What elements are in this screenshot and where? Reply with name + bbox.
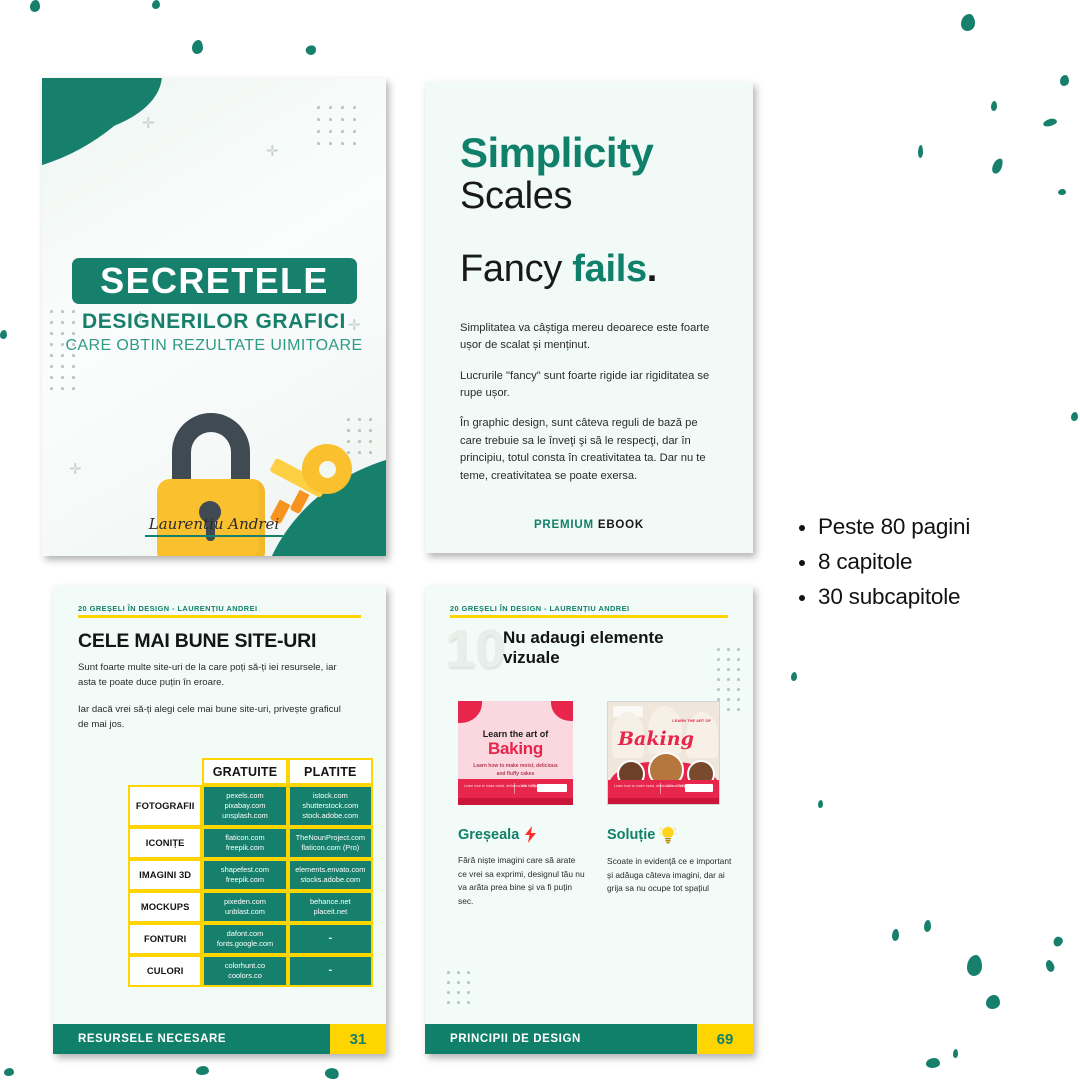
key-head-hole-icon: [319, 461, 336, 478]
table-row: FOTOGRAFII pexels.compixabay.comunsplash…: [128, 785, 373, 827]
page-footer: RESURSELE NECESARE 31: [53, 1024, 386, 1054]
mistake-heading: Greșeala: [458, 827, 519, 843]
leaf-icon: [991, 157, 1005, 175]
leaf-icon: [1051, 935, 1064, 948]
thumb-line2: Baking: [458, 739, 573, 759]
leaf-icon: [192, 40, 203, 54]
thumb-line3: Learn how to make moist, delicious and f…: [470, 763, 561, 778]
cover-subtitle-1: DESIGNERILOR GRAFICI: [42, 310, 386, 334]
table-row-label: FONTURI: [128, 923, 202, 955]
leaf-icon: [1060, 75, 1069, 86]
leaf-icon: [4, 1068, 14, 1076]
table-cell-paid: istock.comshutterstock.comstock.adobe.co…: [288, 785, 373, 827]
simplicity-heading-line3: Fancy fails.: [460, 248, 657, 291]
principle-number: 10: [445, 622, 505, 676]
simplicity-paragraph: Lucrurile "fancy" sunt foarte rigide iar…: [460, 368, 722, 403]
cover-signature-text: Laurentiu Andrei: [145, 515, 283, 537]
table-header-row: GRATUITE PLATITE: [128, 758, 373, 785]
leaf-icon: [961, 14, 975, 31]
thumb-script-title: Baking: [618, 728, 694, 750]
list-item: 30 subcapitole: [796, 580, 1076, 615]
leaf-icon: [926, 1058, 940, 1068]
fancy-word: Fancy: [460, 248, 572, 290]
leaf-icon: [30, 0, 40, 12]
solution-column: Soluție Scoate in evidență ce e import: [607, 826, 735, 896]
list-item: 8 capitole: [796, 545, 1076, 580]
design-principles-page[interactable]: 20 GREȘELI ÎN DESIGN - LAURENȚIU ANDREI …: [425, 586, 753, 1054]
table-row: FONTURI dafont.comfonts.google.com -: [128, 923, 373, 955]
principle-headline: Nu adaugi elemente vizuale: [503, 628, 721, 669]
leaf-icon: [1042, 118, 1057, 128]
page-number: 69: [697, 1024, 753, 1054]
cover-title: SECRETELE: [100, 260, 329, 302]
resources-page[interactable]: 20 GREȘELI ÎN DESIGN - LAURENȚIU ANDREI …: [53, 586, 386, 1054]
key-tooth-icon: [289, 490, 309, 515]
table-row: CULORI colorhunt.cocoolors.co -: [128, 955, 373, 987]
thumb-line1: Learn the art of: [458, 729, 573, 739]
page-body: Sunt foarte multe site-uri de la care po…: [78, 660, 353, 743]
cover-signature: Laurentiu Andrei: [42, 515, 386, 534]
table-cell-paid: TheNounProject.comflaticon.com (Pro): [288, 827, 373, 859]
leaf-icon: [924, 920, 931, 932]
page-paragraph: Iar dacă vrei să-ți alegi cele mai bune …: [78, 702, 353, 733]
page-header: 20 GREȘELI ÎN DESIGN - LAURENȚIU ANDREI: [450, 604, 728, 618]
leaf-icon: [791, 672, 797, 681]
corner-shape: [458, 701, 482, 723]
mistake-column: Greșeala Fără niște imagini care să arat…: [458, 826, 586, 908]
leaf-icon: [986, 995, 1000, 1009]
simplicity-paragraph: Simplitatea va câștiga mereu deoarece es…: [460, 320, 722, 355]
feature-bullet-list: Peste 80 pagini 8 capitole 30 subcapitol…: [796, 510, 1076, 615]
thumb-band-chip: [685, 784, 713, 792]
ebook-cover-page[interactable]: ✛ ✛ ✛ ✛ ✛ SECRETELE DESIGNERILOR GRAFICI…: [42, 78, 386, 556]
table-row-label: ICONIȚE: [128, 827, 202, 859]
table-column-header-free: GRATUITE: [202, 758, 287, 785]
leaf-icon: [918, 145, 923, 158]
divider: [660, 783, 661, 794]
cover-subtitle-2: CARE OBTIN REZULTATE UIMITOARE: [42, 337, 386, 355]
solution-heading-row: Soluție: [607, 826, 735, 844]
leaf-icon: [1044, 959, 1056, 973]
thumb-footer-band: Learn how to make moist, delicious and f…: [458, 779, 573, 805]
simplicity-heading-line1: Simplicity: [460, 129, 653, 177]
leaf-icon: [152, 0, 160, 9]
leaf-icon: [991, 101, 997, 111]
table-cell-free: dafont.comfonts.google.com: [202, 923, 287, 955]
table-column-header-paid: PLATITE: [288, 758, 373, 785]
lightning-bolt-icon: [524, 826, 537, 843]
premium-label: PREMIUM: [534, 519, 594, 531]
divider: [514, 783, 515, 794]
leaf-icon: [196, 1066, 209, 1075]
thumb-band-bar: [458, 798, 573, 805]
table-cell-free: pixeden.comunblast.com: [202, 891, 287, 923]
page-title: CELE MAI BUNE SITE-URI: [78, 630, 316, 653]
page-paragraph: Sunt foarte multe site-uri de la care po…: [78, 660, 353, 691]
page-number: 31: [330, 1024, 386, 1054]
simplicity-heading-line2: Scales: [460, 175, 572, 218]
table-cell-free: shapefest.comfreepik.com: [202, 859, 287, 891]
simplicity-paragraph: În graphic design, sunt câteva reguli de…: [460, 415, 722, 484]
table-row-label: CULORI: [128, 955, 202, 987]
mistake-heading-row: Greșeala: [458, 826, 586, 843]
thumb-tiny-text: LEARN THE ART OF: [672, 718, 711, 724]
resources-table: GRATUITE PLATITE FOTOGRAFII pexels.compi…: [128, 758, 373, 987]
page-header: 20 GREȘELI ÎN DESIGN - LAURENȚIU ANDREI: [78, 604, 361, 618]
table-row-label: IMAGINI 3D: [128, 859, 202, 891]
corner-shape: [551, 701, 573, 721]
header-rule: [78, 615, 361, 618]
table-cell-free: colorhunt.cocoolors.co: [202, 955, 287, 987]
lightbulb-icon: [660, 826, 676, 844]
leaf-icon: [818, 800, 823, 808]
leaf-icon: [953, 1049, 958, 1058]
leaf-icon: [304, 43, 318, 57]
table-cell-paid: behance.netplaceit.net: [288, 891, 373, 923]
table-row: IMAGINI 3D shapefest.comfreepik.com elem…: [128, 859, 373, 891]
period-mark: .: [647, 248, 657, 290]
fails-word: fails: [572, 248, 647, 290]
table-cell-paid: elements.envato.comstocks.adobe.com: [288, 859, 373, 891]
table-row-label: FOTOGRAFII: [128, 785, 202, 827]
table-row: ICONIȚE flaticon.comfreepik.com TheNounP…: [128, 827, 373, 859]
leaf-icon: [1058, 189, 1066, 195]
leaf-icon: [324, 1066, 341, 1080]
header-rule: [450, 615, 728, 618]
solution-heading: Soluție: [607, 827, 655, 843]
page-kicker: 20 GREȘELI ÎN DESIGN - LAURENȚIU ANDREI: [450, 604, 728, 613]
page-footer: PRINCIPII DE DESIGN 69: [425, 1024, 753, 1054]
promo-composition: ✛ ✛ ✛ ✛ ✛ SECRETELE DESIGNERILOR GRAFICI…: [0, 0, 1080, 1080]
table-head: GRATUITE PLATITE: [128, 758, 373, 785]
ebook-label: EBOOK: [598, 519, 644, 531]
page-footer-label: RESURSELE NECESARE: [53, 1033, 330, 1045]
table-cell-free: flaticon.comfreepik.com: [202, 827, 287, 859]
simplicity-page[interactable]: Simplicity Scales Fancy fails. Simplitat…: [425, 82, 753, 553]
table-cell-paid: -: [288, 955, 373, 987]
premium-ebook-footer: PREMIUM EBOOK: [425, 519, 753, 531]
thumb-band-bar: [608, 798, 719, 804]
table-row-label: MOCKUPS: [128, 891, 202, 923]
simplicity-body: Simplitatea va câștiga mereu deoarece es…: [460, 320, 722, 498]
table-cell-free: pexels.compixabay.comunsplash.com: [202, 785, 287, 827]
table-corner-cell: [128, 758, 202, 785]
thumb-band-chip: [537, 784, 567, 792]
solution-body: Scoate in evidență ce e important și adă…: [607, 855, 735, 896]
leaf-icon: [892, 929, 899, 941]
table-cell-paid: -: [288, 923, 373, 955]
table-body: FOTOGRAFII pexels.compixabay.comunsplash…: [128, 785, 373, 987]
leaf-icon: [967, 955, 982, 976]
list-item: Peste 80 pagini: [796, 510, 1076, 545]
cover-title-bar: SECRETELE: [72, 258, 357, 304]
thumbnail-bad-example[interactable]: Learn the art of Baking Learn how to mak…: [458, 701, 573, 805]
page-kicker: 20 GREȘELI ÎN DESIGN - LAURENȚIU ANDREI: [78, 604, 361, 613]
mistake-body: Fără niște imagini care să arate ce vrei…: [458, 854, 586, 908]
table-row: MOCKUPS pixeden.comunblast.com behance.n…: [128, 891, 373, 923]
page-footer-label: PRINCIPII DE DESIGN: [425, 1033, 697, 1045]
leaf-icon: [1071, 412, 1078, 421]
thumb-footer-band: Learn how to make moist, delicious and f…: [608, 780, 719, 804]
leaf-icon: [0, 330, 7, 339]
thumbnail-good-example[interactable]: LEARN THE ART OF Baking Learn how to mak…: [607, 701, 720, 805]
